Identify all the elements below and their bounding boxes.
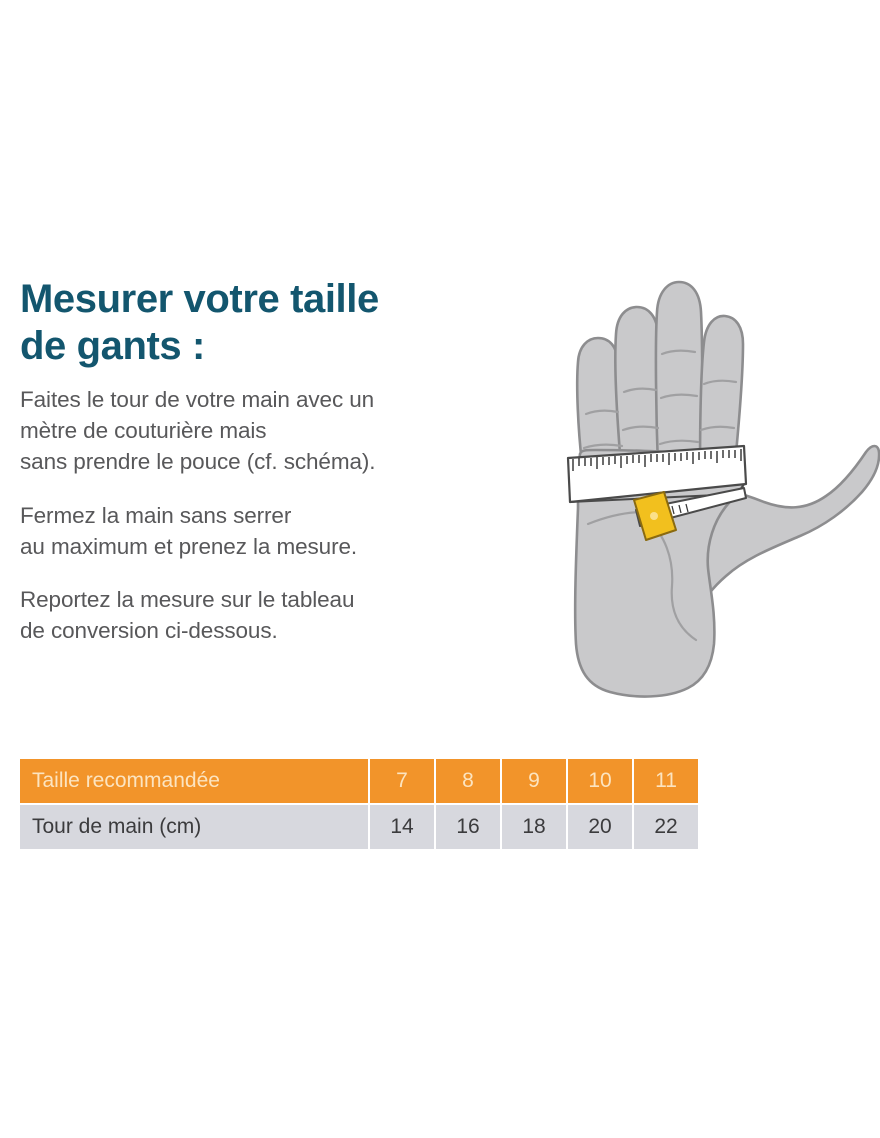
table-data-row: Tour de main (cm) 14 16 18 20 22	[20, 805, 698, 849]
header-size-cell-4: 10	[568, 759, 632, 803]
table-header-row: Taille recommandée 7 8 9 10 11	[20, 759, 698, 803]
row-value-cell-5: 22	[634, 805, 698, 849]
header-size-cell-3: 9	[502, 759, 566, 803]
row-value-cell-2: 16	[436, 805, 500, 849]
size-conversion-table: Taille recommandée 7 8 9 10 11 Tour de m…	[18, 757, 700, 851]
row-label-cell: Tour de main (cm)	[20, 805, 368, 849]
header-size-cell-2: 8	[436, 759, 500, 803]
header-size-cell-1: 7	[370, 759, 434, 803]
hand-measuring-illustration	[548, 258, 880, 710]
row-value-cell-3: 18	[502, 805, 566, 849]
instruction-paragraph-3: Reportez la mesure sur le tableau de con…	[20, 584, 540, 646]
page-title: Mesurer votre taille de gants :	[20, 276, 540, 370]
row-value-cell-4: 20	[568, 805, 632, 849]
instructions-block: Mesurer votre taille de gants : Faites l…	[20, 276, 540, 646]
instruction-paragraph-2: Fermez la main sans serrer au maximum et…	[20, 500, 540, 562]
size-guide-page: Mesurer votre taille de gants : Faites l…	[0, 0, 880, 1138]
header-label-cell: Taille recommandée	[20, 759, 368, 803]
header-size-cell-5: 11	[634, 759, 698, 803]
instruction-paragraph-1: Faites le tour de votre main avec un mèt…	[20, 384, 540, 477]
row-value-cell-1: 14	[370, 805, 434, 849]
